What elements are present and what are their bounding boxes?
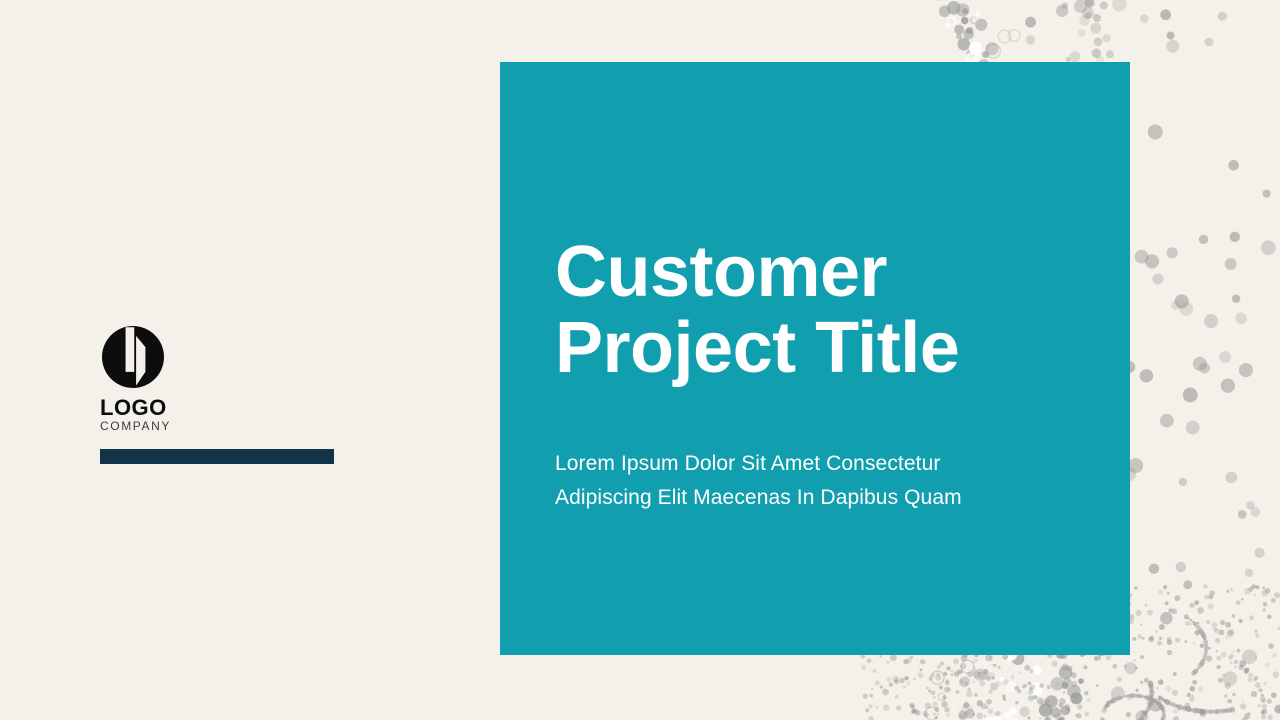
page-title: Customer Project Title bbox=[555, 234, 1095, 387]
subtitle-line-1: Lorem Ipsum Dolor Sit Amet Consectetur bbox=[555, 447, 1095, 481]
title-slide: LOGO COMPANY Customer Project Title Lore… bbox=[0, 0, 1280, 720]
subtitle: Lorem Ipsum Dolor Sit Amet Consectetur A… bbox=[555, 447, 1095, 515]
logo-block: LOGO COMPANY bbox=[100, 326, 340, 433]
title-line-2: Project Title bbox=[555, 310, 1095, 386]
logo-wordmark: LOGO bbox=[100, 396, 340, 419]
logo-mark-icon bbox=[102, 326, 164, 388]
subtitle-line-2: Adipiscing Elit Maecenas In Dapibus Quam bbox=[555, 481, 1095, 515]
logo-subword: COMPANY bbox=[100, 420, 340, 433]
title-line-1: Customer bbox=[555, 234, 1095, 310]
accent-bar bbox=[100, 449, 334, 464]
teal-content-panel: Customer Project Title Lorem Ipsum Dolor… bbox=[500, 62, 1130, 655]
